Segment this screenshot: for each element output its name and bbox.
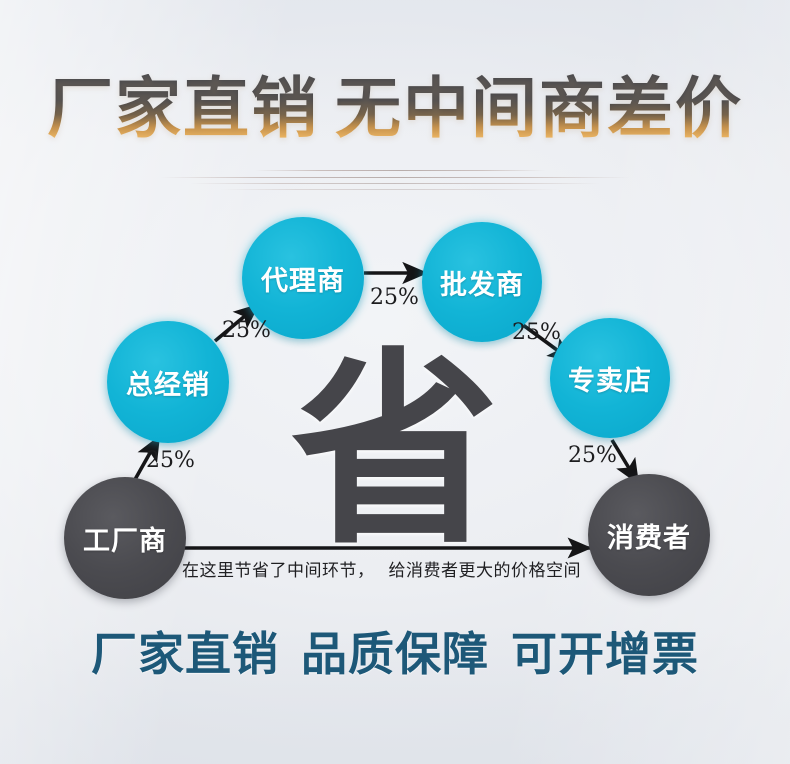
promo-poster: 厂家直销无中间商差价 省 工厂商 总经销 bbox=[0, 0, 790, 764]
node-general-distributor[interactable]: 总经销 bbox=[107, 321, 229, 443]
node-general-distributor-label: 总经销 bbox=[126, 363, 210, 402]
node-consumer-label: 消费者 bbox=[607, 516, 691, 555]
headline-part-2: 无中间商差价 bbox=[335, 70, 743, 147]
flow-caption-part-2: 给消费者更大的价格空间 bbox=[389, 561, 582, 581]
slogan-item-3: 可开增票 bbox=[511, 627, 699, 681]
node-specialty-store-label: 专卖店 bbox=[568, 359, 652, 398]
headline-block: 厂家直销无中间商差价 bbox=[0, 74, 790, 144]
node-specialty-store[interactable]: 专卖店 bbox=[550, 318, 670, 438]
slogan-item-1: 厂家直销 bbox=[91, 627, 279, 681]
markup-label-agent-to-wholesale: 25% bbox=[370, 285, 419, 310]
slogan-item-2: 品质保障 bbox=[301, 627, 489, 681]
page-title: 厂家直销无中间商差价 bbox=[47, 74, 743, 144]
markup-label-wholesale-to-store: 25% bbox=[512, 320, 561, 345]
flow-caption: 在这里节省了中间环节，给消费者更大的价格空间 bbox=[182, 556, 581, 581]
markup-label-general-to-agent: 25% bbox=[222, 318, 271, 343]
node-factory[interactable]: 工厂商 bbox=[64, 477, 186, 599]
markup-label-factory-to-general: 25% bbox=[146, 448, 195, 473]
node-agent-label: 代理商 bbox=[261, 259, 345, 298]
markup-label-store-to-consumer: 25% bbox=[568, 443, 617, 468]
headline-part-1: 厂家直销 bbox=[47, 70, 319, 147]
flow-caption-part-1: 在这里节省了中间环节， bbox=[182, 561, 375, 581]
node-consumer[interactable]: 消费者 bbox=[588, 474, 710, 596]
bottom-slogan: 厂家直销品质保障可开增票 bbox=[0, 618, 790, 684]
node-wholesaler-label: 批发商 bbox=[440, 263, 524, 302]
node-factory-label: 工厂商 bbox=[83, 519, 167, 558]
